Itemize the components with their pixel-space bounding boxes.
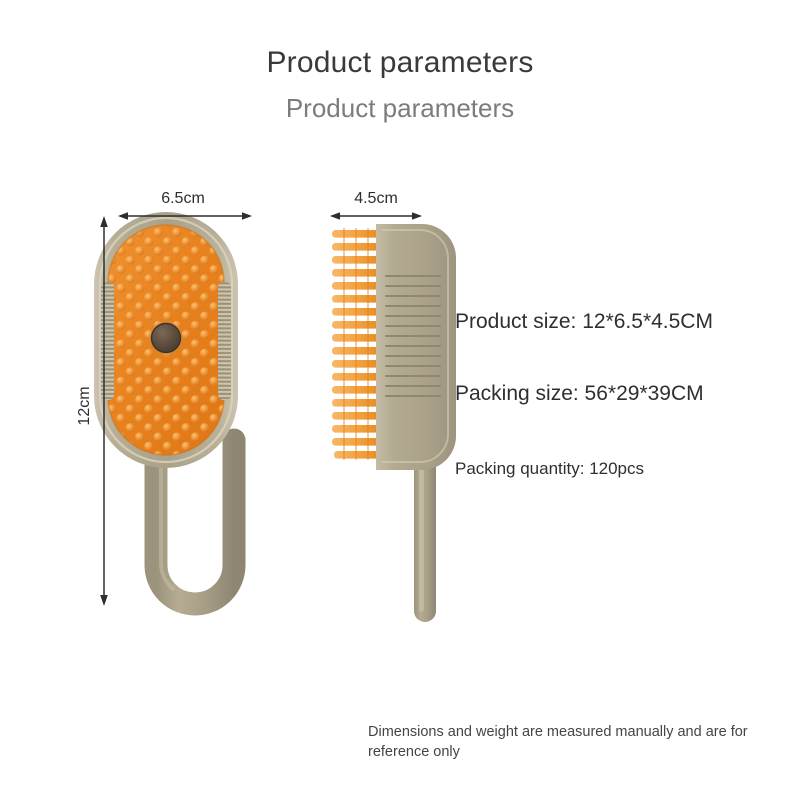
front-view-brush	[94, 212, 238, 604]
page-subtitle: Product parameters	[0, 93, 800, 124]
dimension-label-front-width: 6.5cm	[118, 190, 248, 208]
product-parameter-sheet: Product parameters Product parameters	[0, 0, 800, 800]
spec-packing-size: Packing size: 56*29*39CM	[455, 382, 704, 406]
dimension-arrow-side-width	[324, 208, 428, 224]
product-illustration	[60, 190, 480, 640]
spec-packing-quantity: Packing quantity: 120pcs	[455, 459, 644, 479]
dimension-label-side-width: 4.5cm	[330, 190, 422, 208]
front-comb-strip-right	[218, 282, 231, 400]
spec-product-size: Product size: 12*6.5*4.5CM	[455, 310, 713, 334]
side-view-brush	[330, 224, 456, 622]
footer-disclaimer: Dimensions and weight are measured manua…	[368, 723, 783, 762]
page-title: Product parameters	[0, 46, 800, 80]
dimension-label-front-height: 12cm	[76, 383, 94, 429]
dimension-arrow-front-width	[110, 208, 260, 224]
dimension-arrow-front-height	[96, 210, 112, 612]
